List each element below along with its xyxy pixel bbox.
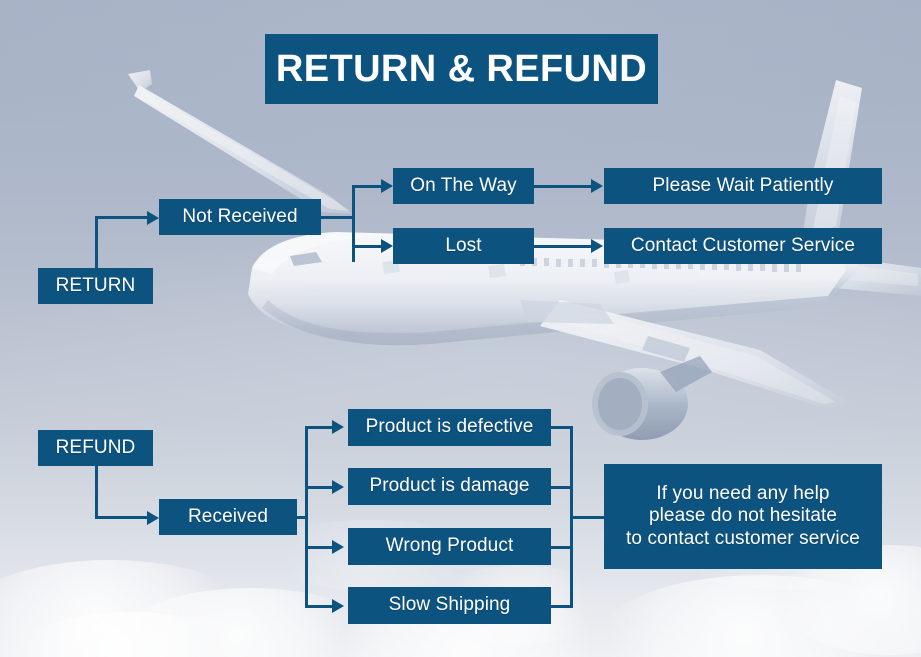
cloud-shape: [600, 575, 920, 657]
node-return-root[interactable]: RETURN: [38, 268, 153, 304]
arrowhead-contact-service: [591, 239, 603, 253]
connector-return-vertical: [95, 217, 98, 269]
arrowhead-lost: [381, 239, 393, 253]
help-line-1: If you need any help: [656, 483, 829, 505]
connector-refund-vertical: [95, 466, 98, 518]
connector-reason-2: [305, 486, 335, 489]
connector-branch-lost: [352, 245, 384, 248]
arrowhead-please-wait: [591, 179, 603, 193]
connector-not-received-trunk: [352, 186, 355, 262]
node-reason-defective[interactable]: Product is defective: [348, 409, 551, 446]
connector-return-horizontal: [95, 216, 150, 219]
node-reason-wrong-product[interactable]: Wrong Product: [348, 528, 551, 565]
flowchart-canvas: RETURN & REFUND RETURN Not Received On T…: [0, 0, 921, 657]
node-contact-customer-service[interactable]: Contact Customer Service: [604, 228, 882, 264]
connector-refund-horizontal: [95, 516, 150, 519]
connector-not-received-stub: [321, 216, 355, 219]
help-line-3: to contact customer service: [626, 528, 860, 550]
page-title: RETURN & REFUND: [265, 34, 658, 104]
connector-merge-to-help: [570, 516, 606, 519]
node-on-the-way[interactable]: On The Way: [393, 168, 534, 204]
connector-reason-4: [305, 605, 335, 608]
arrowhead-return-to-not-received: [147, 211, 159, 225]
help-line-2: please do not hesitate: [649, 505, 837, 527]
arrowhead-reason-4: [332, 599, 344, 613]
cloud-shape: [20, 612, 240, 657]
connector-lost-to-action: [534, 245, 594, 248]
node-help-message[interactable]: If you need any help please do not hesit…: [604, 464, 882, 569]
arrowhead-refund-to-received: [147, 511, 159, 525]
node-received[interactable]: Received: [159, 499, 297, 535]
cloud-shape: [0, 560, 260, 657]
node-lost[interactable]: Lost: [393, 228, 534, 264]
node-please-wait-patiently[interactable]: Please Wait Patiently: [604, 168, 882, 204]
node-reason-damage[interactable]: Product is damage: [348, 468, 551, 505]
connector-on-the-way-to-action: [534, 185, 594, 188]
connector-reason-3: [305, 546, 335, 549]
node-reason-slow-shipping[interactable]: Slow Shipping: [348, 587, 551, 624]
arrowhead-on-the-way: [381, 179, 393, 193]
connector-refund-trunk: [305, 426, 308, 607]
node-not-received[interactable]: Not Received: [159, 199, 321, 235]
arrowhead-reason-3: [332, 540, 344, 554]
connector-reason-1: [305, 426, 335, 429]
arrowhead-reason-2: [332, 480, 344, 494]
node-refund-root[interactable]: REFUND: [38, 430, 153, 466]
arrowhead-reason-1: [332, 420, 344, 434]
connector-branch-on-the-way: [352, 185, 384, 188]
